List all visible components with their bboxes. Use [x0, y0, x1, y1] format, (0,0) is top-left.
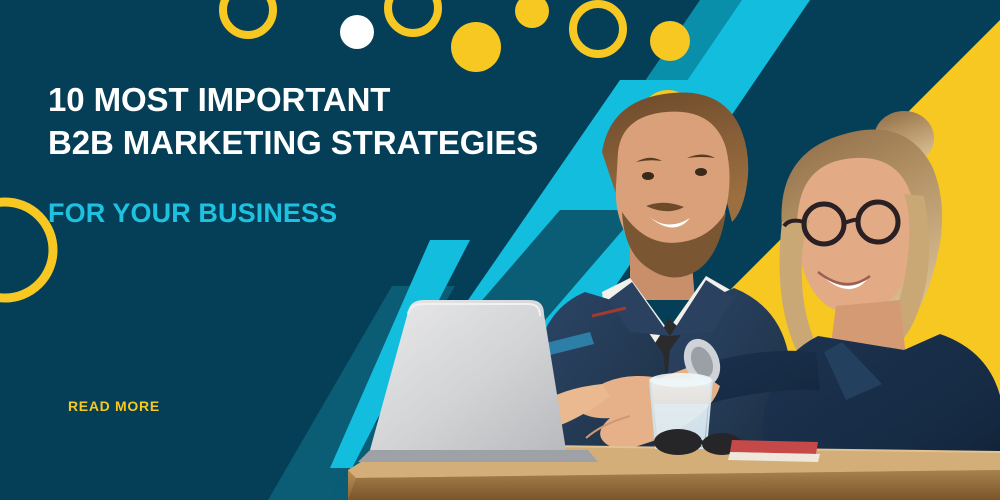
notebook [730, 440, 818, 454]
laptop-lid [370, 300, 566, 450]
subheadline: FOR YOUR BUSINESS [48, 196, 568, 230]
marketing-banner: 10 MOST IMPORTANT B2B MARKETING STRATEGI… [0, 0, 1000, 500]
headline-line-1: 10 MOST IMPORTANT [48, 78, 568, 121]
headline-block: 10 MOST IMPORTANT B2B MARKETING STRATEGI… [48, 78, 568, 230]
read-more-button[interactable]: READ MORE [68, 398, 160, 414]
photo-illustration [330, 0, 1000, 500]
laptop-base [358, 450, 598, 462]
people-photo [330, 0, 1000, 500]
headline-line-2: B2B MARKETING STRATEGIES [48, 121, 568, 164]
